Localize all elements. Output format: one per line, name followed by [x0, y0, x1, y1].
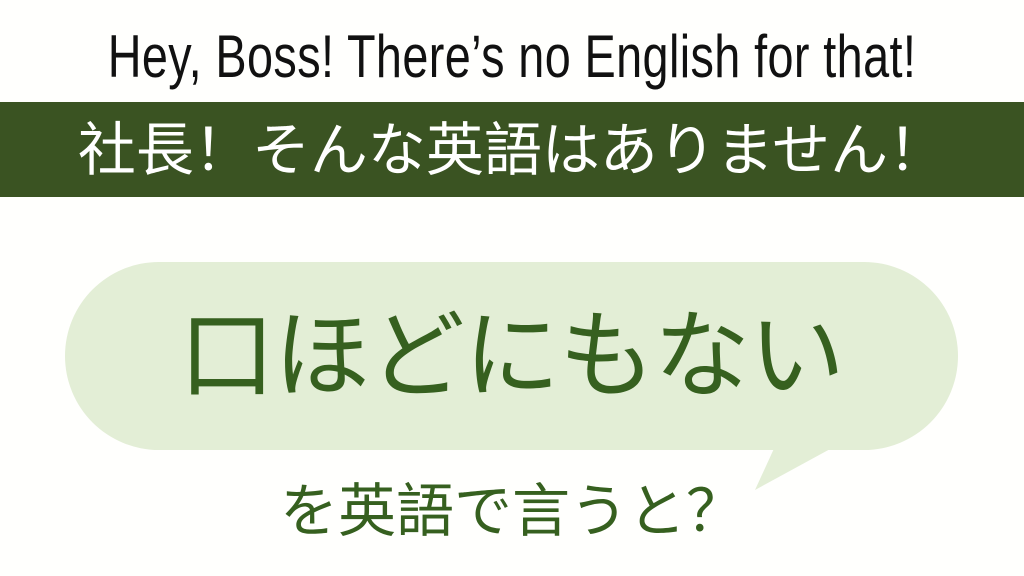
speech-bubble: 口ほどにもない: [65, 262, 958, 494]
english-headline: Hey, Boss! There’s no English for that!: [113, 14, 912, 100]
japanese-subtitle-banner: 社長！そんな英語はありません！: [0, 102, 1024, 197]
japanese-phrase-text: 口ほどにもない: [65, 262, 958, 450]
bottom-caption: を英語で言うと？: [0, 478, 1024, 544]
slide-canvas: Hey, Boss! There’s no English for that! …: [0, 0, 1024, 576]
japanese-subtitle-text: 社長！そんな英語はありません！: [0, 102, 1024, 197]
